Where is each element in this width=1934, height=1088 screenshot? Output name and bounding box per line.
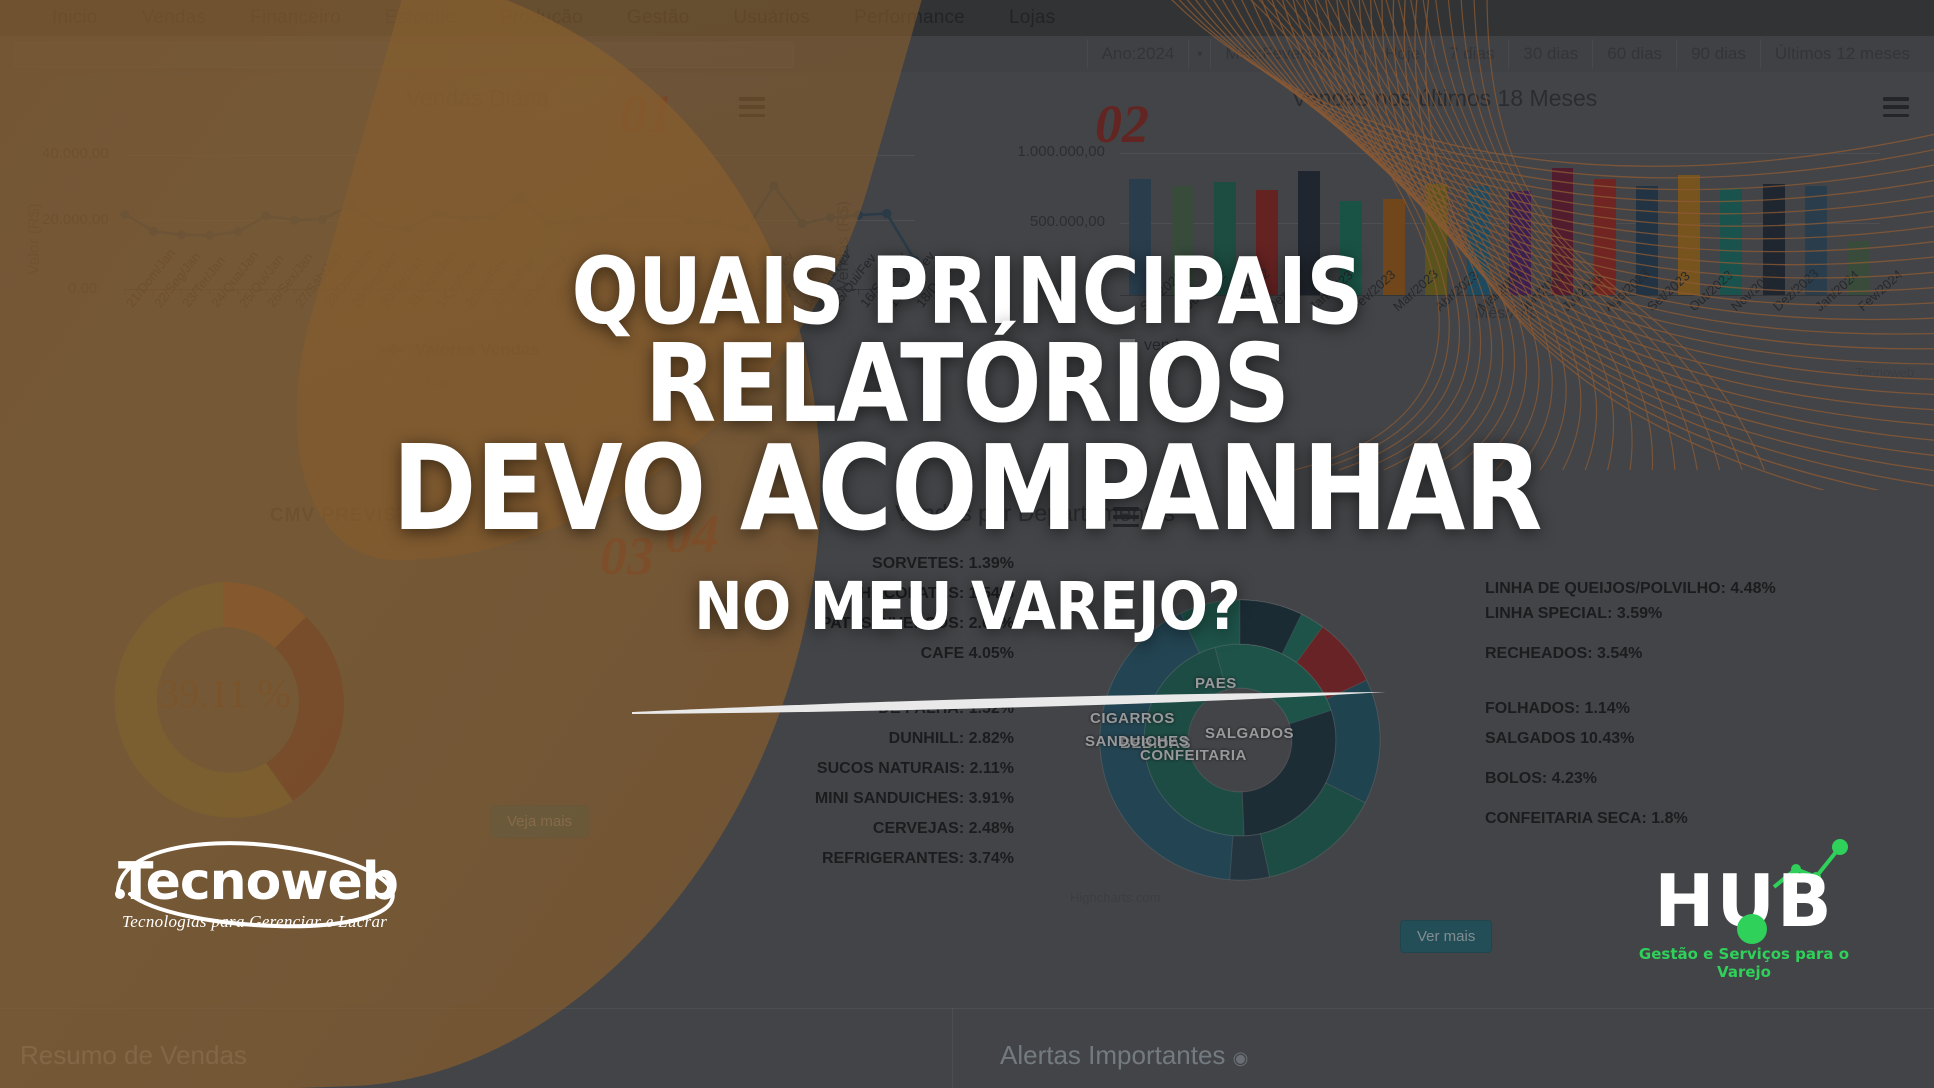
- tecnoweb-name: Tecnoweb: [100, 840, 420, 908]
- headline-block: QUAIS PRINCIPAIS RELATÓRIOS DEVO ACOMPAN…: [0, 250, 1934, 637]
- tecnoweb-tagline: Tecnologias para Gerenciar e Lucrar: [100, 912, 420, 932]
- headline-line-3: DEVO ACOMPANHAR: [135, 434, 1798, 543]
- screenshot-root: Inicio Vendas Financeiro Estoque Produçã…: [0, 0, 1934, 1088]
- hub-logo: HUB Gestão e Serviços para o Varejo: [1624, 855, 1864, 985]
- hub-tagline: Gestão e Serviços para o Varejo: [1624, 945, 1864, 981]
- tecnoweb-logo: Tecnoweb Tecnologias para Gerenciar e Lu…: [100, 840, 420, 960]
- headline-line-4: NO MEU VAREJO?: [116, 577, 1818, 638]
- hub-dot-icon: [1732, 909, 1772, 949]
- brush-stroke-decoration: [630, 690, 1390, 716]
